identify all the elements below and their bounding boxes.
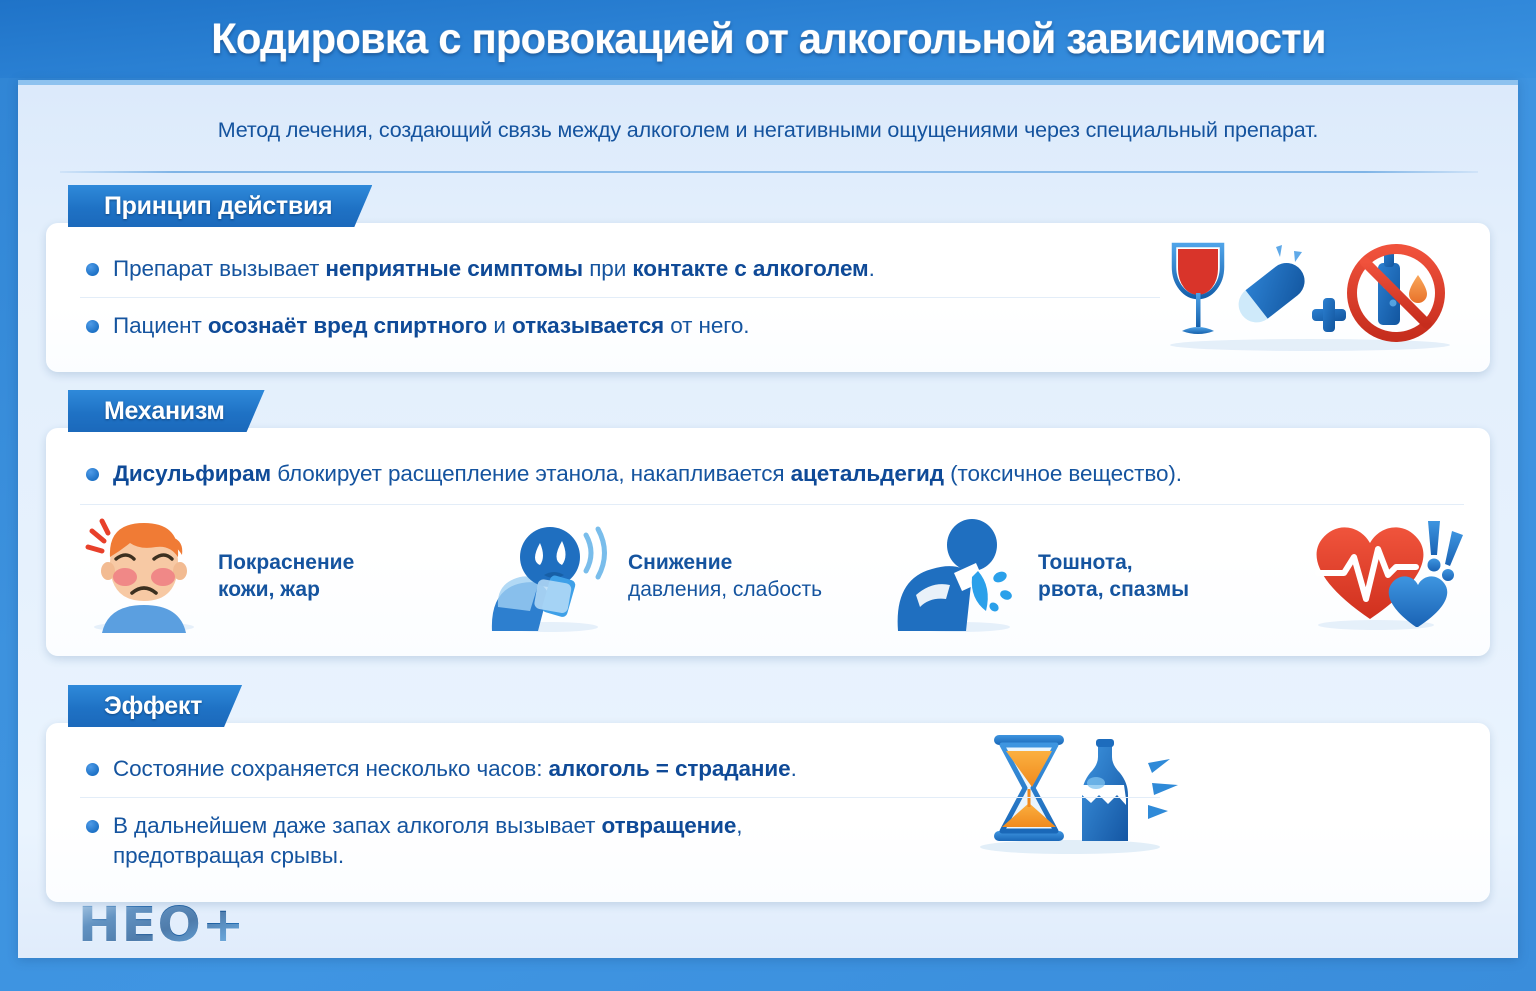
symptom-item: Снижение давления, слабость xyxy=(488,515,896,638)
symptom-line1: Покраснение xyxy=(218,549,354,576)
bullet-list-effect: Состояние сохраняется несколько часов: а… xyxy=(80,741,1160,884)
title-bar: Кодировка с провокацией от алкогольной з… xyxy=(0,0,1536,78)
bullet-dot-icon xyxy=(86,820,99,833)
symptom-item xyxy=(1304,515,1464,638)
symptom-line2: давления, слабость xyxy=(628,576,822,603)
bullet-text: Пациент осознаёт вред спиртного и отказы… xyxy=(113,311,749,341)
bullet-dot-icon xyxy=(86,263,99,276)
list-item: В дальнейшем даже запах алкоголя вызывае… xyxy=(80,797,1160,884)
bullet-text: Дисульфирам блокирует расщепление этанол… xyxy=(113,459,1182,489)
bullet-text: В дальнейшем даже запах алкоголя вызывае… xyxy=(113,811,742,871)
flushed-face-icon xyxy=(80,515,208,638)
vomiting-person-icon xyxy=(896,515,1028,638)
symptom-line2: кожи, жар xyxy=(218,576,354,603)
list-item: Дисульфирам блокирует расщепление этанол… xyxy=(80,446,1464,502)
section-card-effect: Состояние сохраняется несколько часов: а… xyxy=(46,723,1490,902)
bullet-list-principle: Препарат вызывает неприятные симптомы пр… xyxy=(80,241,1160,354)
lead-divider xyxy=(60,171,1478,173)
symptom-label: Тошнота, рвота, спазмы xyxy=(1038,549,1189,604)
symptom-item: Тошнота, рвота, спазмы xyxy=(896,515,1304,638)
section-banner-effect: Эффект xyxy=(68,685,242,727)
heart-pulse-icon xyxy=(1304,515,1464,638)
symptom-item: Покраснение кожи, жар xyxy=(80,515,488,638)
bullet-dot-icon xyxy=(86,763,99,776)
list-item: Препарат вызывает неприятные симптомы пр… xyxy=(80,241,1160,297)
symptom-line1: Снижение xyxy=(628,549,822,576)
section-principle: Принцип действия Препарат вызывает непри… xyxy=(46,185,1490,372)
symptom-line1: Тошнота, xyxy=(1038,549,1189,576)
content-panel: Метод лечения, создающий связь между алк… xyxy=(18,80,1518,958)
symptom-label: Снижение давления, слабость xyxy=(628,549,822,604)
symptom-line2: рвота, спазмы xyxy=(1038,576,1189,603)
bullet-text: Препарат вызывает неприятные симптомы пр… xyxy=(113,254,875,284)
section-card-mechanism: Дисульфирам блокирует расщепление этанол… xyxy=(46,428,1490,656)
infographic-poster: Кодировка с провокацией от алкогольной з… xyxy=(0,0,1536,991)
list-item: Пациент осознаёт вред спиртного и отказы… xyxy=(80,297,1160,354)
brand-logo: НЕО+ xyxy=(78,897,245,953)
symptom-label: Покраснение кожи, жар xyxy=(218,549,354,604)
dizzy-person-icon xyxy=(488,515,618,638)
bullet-dot-icon xyxy=(86,320,99,333)
list-item: Состояние сохраняется несколько часов: а… xyxy=(80,741,1160,797)
page-title: Кодировка с провокацией от алкогольной з… xyxy=(211,15,1325,64)
bullet-list-mechanism: Дисульфирам блокирует расщепление этанол… xyxy=(80,446,1464,502)
bullet-dot-icon xyxy=(86,468,99,481)
section-effect: Эффект Состояние сохраняется несколько ч… xyxy=(46,685,1490,902)
section-banner-principle: Принцип действия xyxy=(68,185,372,227)
symptom-list: Покраснение кожи, жар xyxy=(80,504,1464,642)
wineglass-pill-plus-no-alcohol-icon xyxy=(1160,233,1460,358)
section-card-principle: Препарат вызывает неприятные симптомы пр… xyxy=(46,223,1490,372)
section-mechanism: Механизм Дисульфирам блокирует расщеплен… xyxy=(46,390,1490,656)
bullet-text: Состояние сохраняется несколько часов: а… xyxy=(113,754,797,784)
lead-description: Метод лечения, создающий связь между алк… xyxy=(56,118,1480,143)
section-banner-mechanism: Механизм xyxy=(68,390,265,432)
